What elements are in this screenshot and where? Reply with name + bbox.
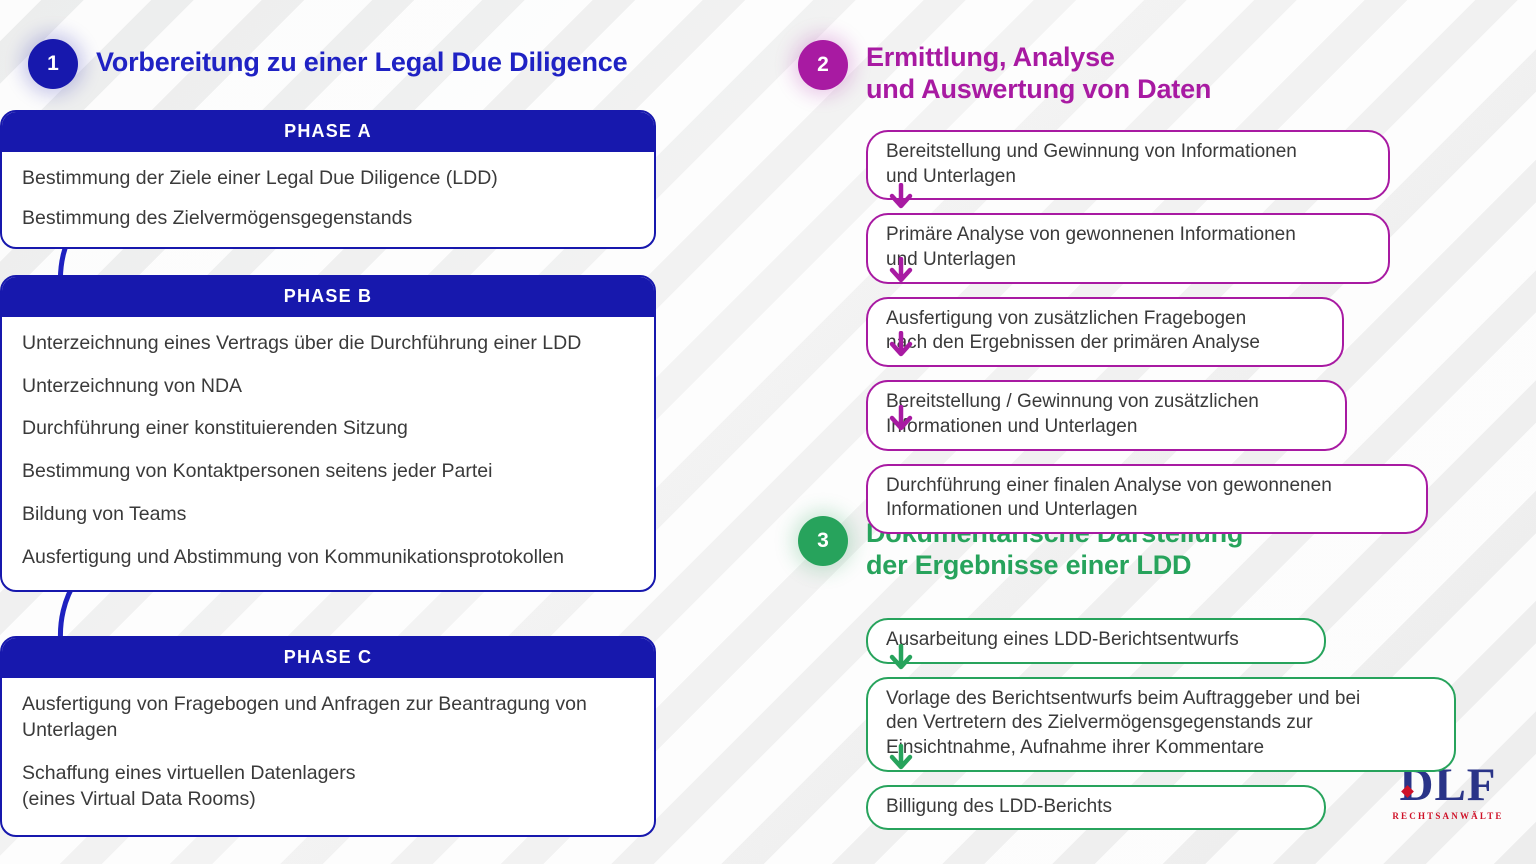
- phase-b-body: Unterzeichnung eines Vertrags über die D…: [2, 317, 654, 590]
- phase-b-item-4: Bestimmung von Kontaktpersonen seitens j…: [22, 459, 634, 485]
- phase-b-item-5: Bildung von Teams: [22, 502, 634, 528]
- phase-a-header: PHASE A: [2, 112, 654, 152]
- step-2-3[interactable]: Ausfertigung von zusätzlichen Fragebogen…: [866, 297, 1344, 367]
- phase-b-item-3: Durchführung einer konstituierenden Sitz…: [22, 416, 634, 442]
- step-2-1[interactable]: Bereitstellung und Gewinnung von Informa…: [866, 130, 1390, 200]
- phase-b-header: PHASE B: [2, 277, 654, 317]
- phase-b-item-2: Unterzeichnung von NDA: [22, 374, 634, 400]
- section-2-badge: 2: [798, 40, 848, 90]
- phase-card-b[interactable]: PHASE B Unterzeichnung eines Vertrags üb…: [0, 275, 656, 592]
- section-1-title: Vorbereitung zu einer Legal Due Diligenc…: [96, 47, 627, 79]
- step-3-2[interactable]: Vorlage des Berichtsentwurfs beim Auftra…: [866, 677, 1456, 772]
- phase-card-c[interactable]: PHASE C Ausfertigung von Fragebogen und …: [0, 636, 656, 837]
- step-2-2[interactable]: Primäre Analyse von gewonnenen Informati…: [866, 213, 1390, 283]
- step-3-3[interactable]: Billigung des LDD-Berichts: [866, 785, 1326, 831]
- section-2-title: Ermittlung, Analyse und Auswertung von D…: [866, 42, 1211, 106]
- phase-card-a[interactable]: PHASE A Bestimmung der Ziele einer Legal…: [0, 110, 656, 249]
- step-2-4[interactable]: Bereitstellung / Gewinnung von zusätzlic…: [866, 380, 1347, 450]
- phase-b-item-1: Unterzeichnung eines Vertrags über die D…: [22, 331, 634, 357]
- infographic-canvas: 1 Vorbereitung zu einer Legal Due Dilige…: [0, 0, 1536, 864]
- phase-c-body: Ausfertigung von Fragebogen und Anfragen…: [2, 678, 654, 835]
- phase-a-item-2: Bestimmung des Zielvermögensgegenstands: [22, 206, 634, 232]
- phase-b-item-6: Ausfertigung und Abstimmung von Kommunik…: [22, 545, 634, 571]
- section-1-header: 1 Vorbereitung zu einer Legal Due Dilige…: [28, 39, 748, 89]
- section-3-badge: 3: [798, 516, 848, 566]
- phase-c-item-2: Schaffung eines virtuellen Datenlagers (…: [22, 761, 634, 812]
- step-3-1[interactable]: Ausarbeitung eines LDD-Berichtsentwurfs: [866, 618, 1326, 664]
- phase-a-item-1: Bestimmung der Ziele einer Legal Due Dil…: [22, 166, 634, 192]
- phase-c-item-1: Ausfertigung von Fragebogen und Anfragen…: [22, 692, 634, 743]
- section-2-header: 2 Ermittlung, Analyse und Auswertung von…: [798, 40, 1488, 106]
- dlf-logo-subtitle: RECHTSANWÄLTE: [1388, 812, 1508, 821]
- phase-c-header: PHASE C: [2, 638, 654, 678]
- step-2-5[interactable]: Durchführung einer finalen Analyse von g…: [866, 464, 1428, 534]
- phase-a-body: Bestimmung der Ziele einer Legal Due Dil…: [2, 152, 654, 247]
- section-1-badge: 1: [28, 39, 78, 89]
- section-2-steps: Bereitstellung und Gewinnung von Informa…: [866, 130, 1486, 534]
